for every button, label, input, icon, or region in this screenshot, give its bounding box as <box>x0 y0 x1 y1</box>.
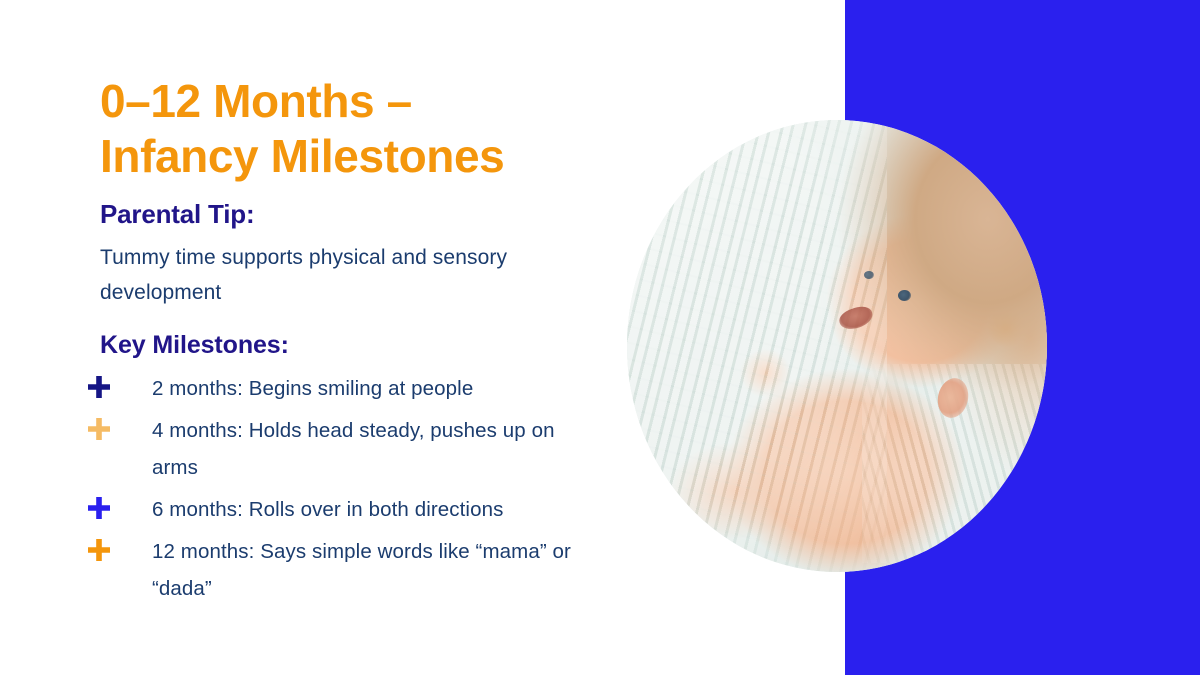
plus-icon <box>88 418 110 440</box>
content-column: 0–12 Months – Infancy Milestones Parenta… <box>0 0 640 675</box>
slide-canvas: 0–12 Months – Infancy Milestones Parenta… <box>0 0 1200 675</box>
list-item-label: 2 months: Begins smiling at people <box>152 370 473 407</box>
photo-vignette <box>627 120 1047 572</box>
parental-tip-label: Parental Tip: <box>100 197 570 231</box>
list-item: 2 months: Begins smiling at people <box>88 370 628 407</box>
parental-tip-block: Parental Tip: Tummy time supports physic… <box>100 197 570 310</box>
milestone-list: 2 months: Begins smiling at people 4 mon… <box>88 370 628 612</box>
plus-icon <box>88 376 110 398</box>
plus-icon-shape <box>88 497 110 519</box>
plus-icon-shape <box>88 539 110 561</box>
list-item-label: 6 months: Rolls over in both directions <box>152 491 503 528</box>
list-item: 12 months: Says simple words like “mama”… <box>88 533 628 607</box>
list-item-label: 12 months: Says simple words like “mama”… <box>152 533 604 607</box>
plus-icon <box>88 497 110 519</box>
parental-tip-text: Tummy time supports physical and sensory… <box>100 240 510 310</box>
list-item-label: 4 months: Holds head steady, pushes up o… <box>152 412 604 486</box>
list-item: 6 months: Rolls over in both directions <box>88 491 628 528</box>
plus-icon-shape <box>88 376 110 398</box>
plus-icon-shape <box>88 418 110 440</box>
plus-icon <box>88 539 110 561</box>
infant-photo <box>627 120 1047 572</box>
slide-title: 0–12 Months – Infancy Milestones <box>100 74 530 184</box>
key-milestones-heading: Key Milestones: <box>100 329 289 361</box>
list-item: 4 months: Holds head steady, pushes up o… <box>88 412 628 486</box>
